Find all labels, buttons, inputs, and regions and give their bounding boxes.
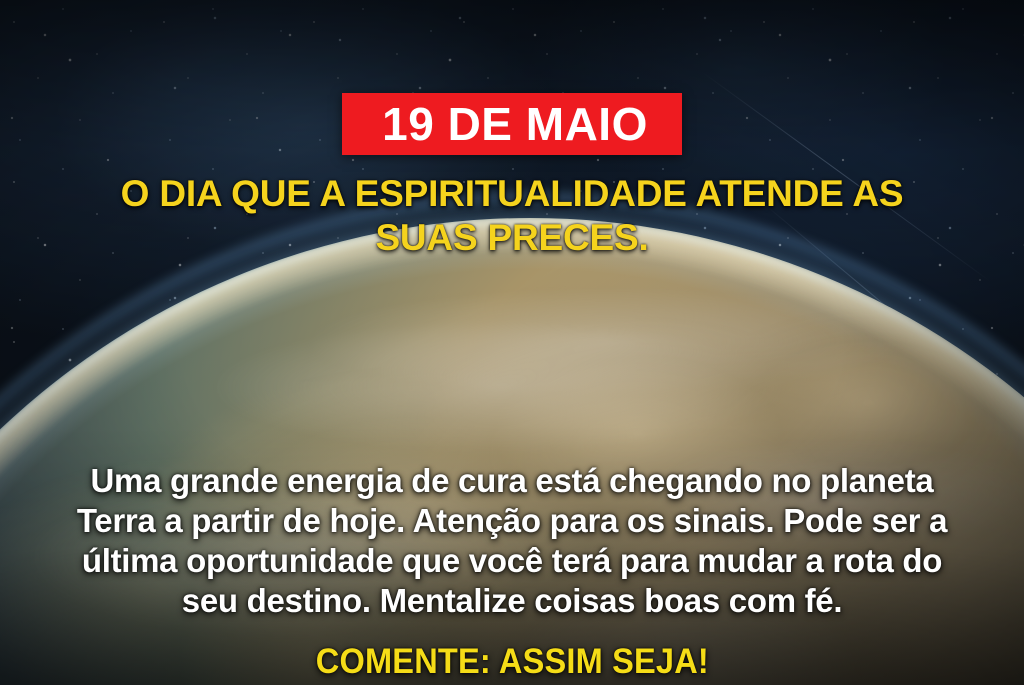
- poster-canvas: 19 DE MAIO O DIA QUE A ESPIRITUALIDADE A…: [0, 0, 1024, 685]
- headline-text: O DIA QUE A ESPIRITUALIDADE ATENDE AS SU…: [72, 172, 952, 260]
- poster-content: 19 DE MAIO O DIA QUE A ESPIRITUALIDADE A…: [0, 0, 1024, 685]
- date-banner: 19 DE MAIO: [342, 93, 682, 155]
- body-paragraph: Uma grande energia de cura está chegando…: [62, 461, 962, 621]
- call-to-action-text: COMENTE: ASSIM SEJA!: [315, 642, 708, 682]
